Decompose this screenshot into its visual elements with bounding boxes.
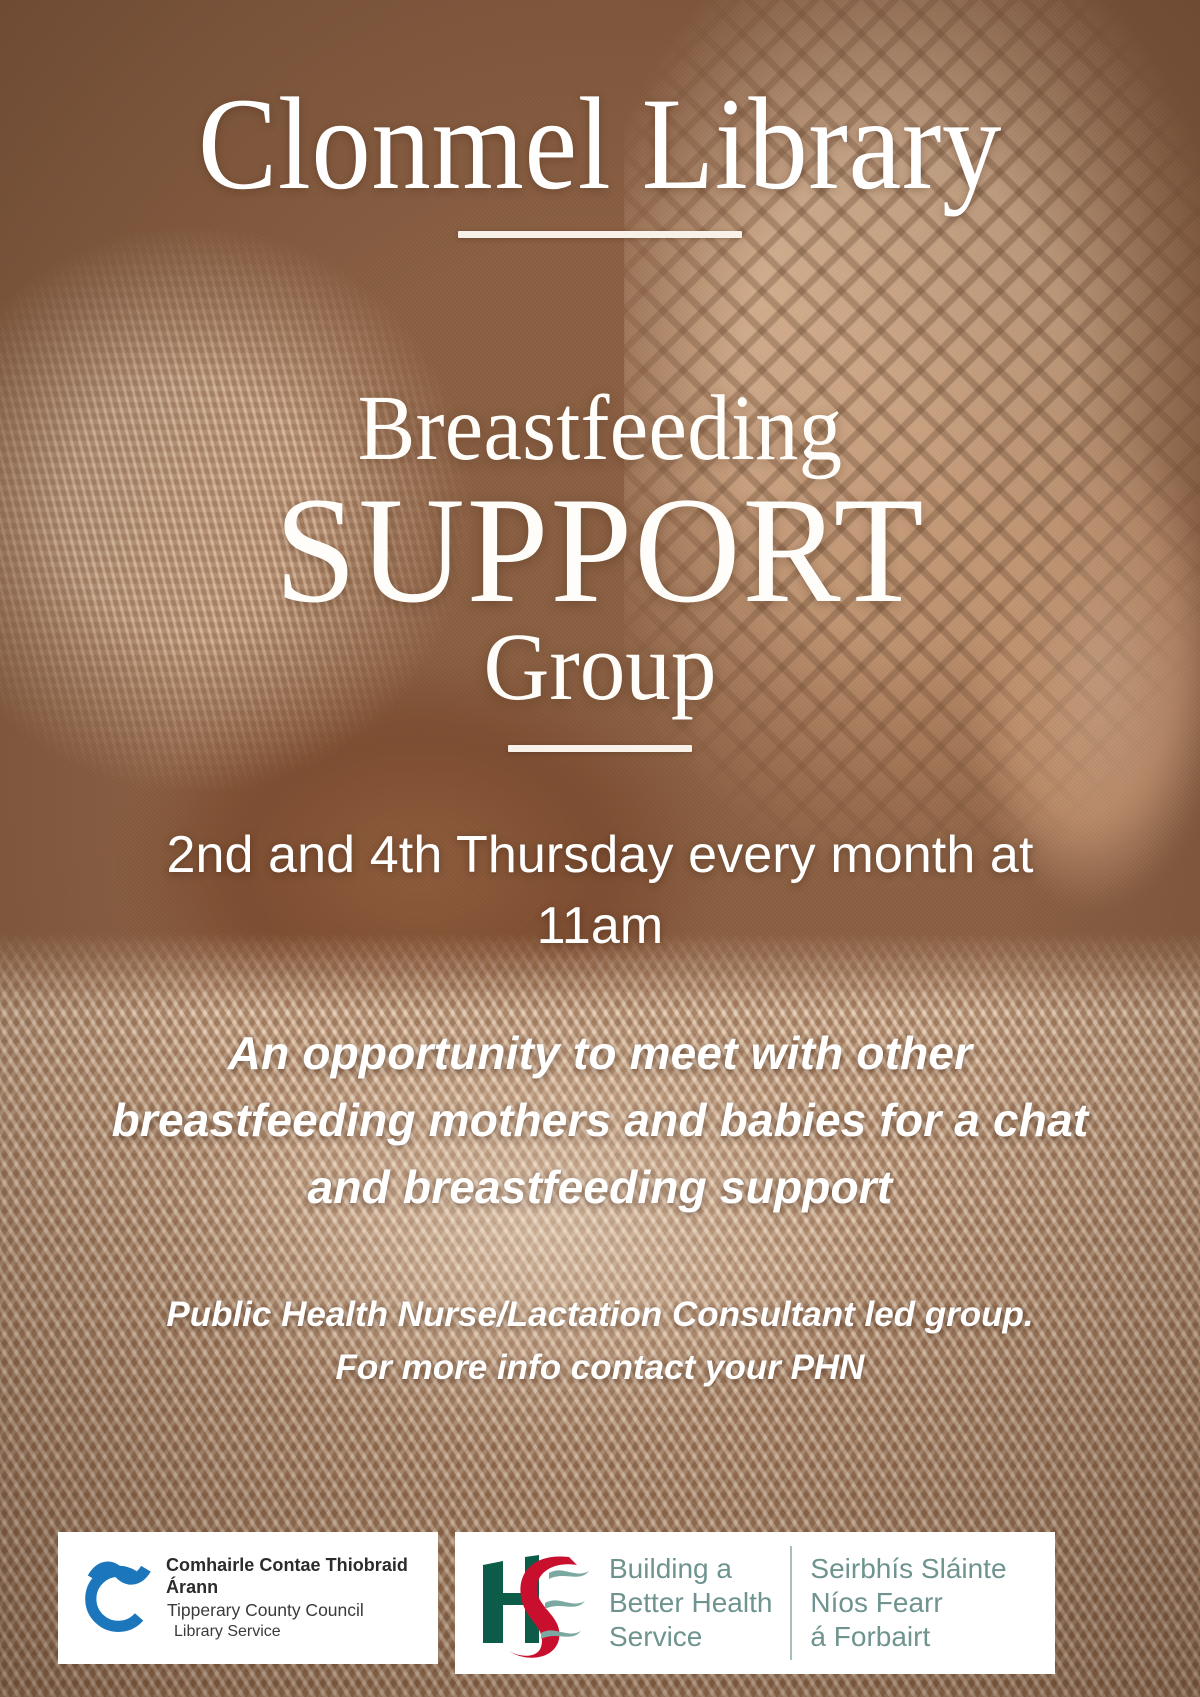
hse-tagline-irish-line-3: á Forbairt [810,1620,1006,1654]
heading-line-group: Group [30,619,1170,715]
hse-logo-divider [790,1546,792,1660]
hse-logo: Building a Better Health Service Seirbhí… [455,1532,1055,1674]
hse-logo-icon [469,1547,597,1659]
hse-tagline-english-line-3: Service [609,1620,772,1654]
tipperary-c-mark-icon [72,1555,158,1641]
heading-divider [508,745,692,752]
event-heading: Breastfeeding SUPPORT Group [0,382,1200,715]
contact-note-line-2: For more info contact your PHN [96,1341,1104,1394]
hse-tagline-irish-line-2: Níos Fearr [810,1586,1006,1620]
heading-line-breastfeeding: Breastfeeding [42,382,1158,475]
hse-tagline-english-line-2: Better Health [609,1586,772,1620]
tipperary-county-council-logo: Comhairle Contae Thiobraid Árann Tippera… [58,1532,438,1664]
tipperary-name-english: Tipperary County Council [166,1599,424,1622]
description-text: An opportunity to meet with other breast… [106,1020,1094,1221]
hse-tagline-english-line-1: Building a [609,1552,772,1586]
hse-tagline-irish-line-1: Seirbhís Sláinte [810,1552,1006,1586]
poster-content: Clonmel Library Breastfeeding SUPPORT Gr… [0,0,1200,1697]
page-title: Clonmel Library [60,78,1140,210]
contact-note-line-1: Public Health Nurse/Lactation Consultant… [96,1288,1104,1341]
hse-tagline-irish: Seirbhís Sláinte Níos Fearr á Forbairt [810,1552,1006,1654]
tipperary-logo-text: Comhairle Contae Thiobraid Árann Tippera… [166,1554,424,1643]
heading-line-support: SUPPORT [18,481,1182,621]
title-divider [458,231,742,238]
schedule-text: 2nd and 4th Thursday every month at 11am [112,820,1088,961]
hse-tagline-english: Building a Better Health Service [609,1552,772,1654]
tipperary-name-irish: Comhairle Contae Thiobraid Árann [166,1554,424,1599]
tipperary-library-service: Library Service [166,1622,424,1643]
poster: Clonmel Library Breastfeeding SUPPORT Gr… [0,0,1200,1697]
contact-note: Public Health Nurse/Lactation Consultant… [96,1288,1104,1394]
